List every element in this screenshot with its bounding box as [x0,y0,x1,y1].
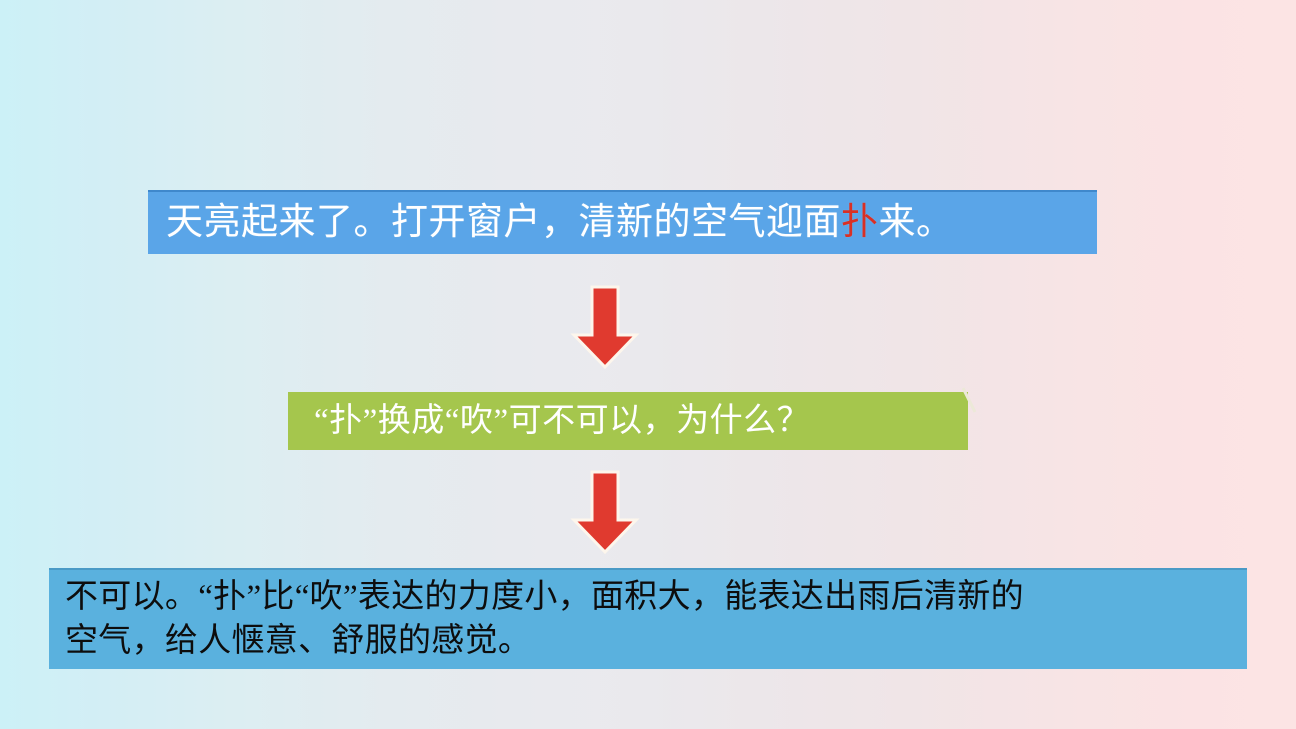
sentence-box: 天亮起来了。打开窗户，清新的空气迎面扑来。 [148,190,1097,254]
answer-text-line-1: 不可以。“扑”比“吹”表达的力度小，面积大，能表达出雨后清新的 [65,576,1024,620]
sentence-text-after: 来。 [879,202,954,243]
answer-box: 不可以。“扑”比“吹”表达的力度小，面积大，能表达出雨后清新的 空气，给人惬意、… [49,568,1247,669]
down-arrow-icon [570,285,640,369]
sentence-text: 天亮起来了。打开窗户，清新的空气迎面扑来。 [166,204,954,243]
slide-canvas: 天亮起来了。打开窗户，清新的空气迎面扑来。 “扑”换成“吹”可不可以，为什么？ … [0,0,1296,729]
question-box: “扑”换成“吹”可不可以，为什么？ [288,392,968,450]
sentence-highlight-char: 扑 [841,202,879,243]
down-arrow-icon [570,470,640,554]
question-text: “扑”换成“吹”可不可以，为什么？ [314,404,810,439]
sentence-text-before: 天亮起来了。打开窗户，清新的空气迎面 [166,202,841,243]
answer-text-line-2: 空气，给人惬意、舒服的感觉。 [65,620,531,664]
